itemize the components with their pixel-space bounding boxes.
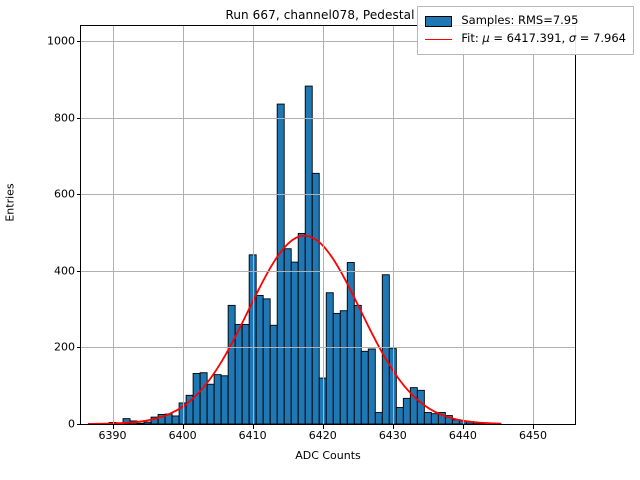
histogram-bar xyxy=(333,313,340,424)
histogram-bars xyxy=(109,86,487,424)
histogram-bar xyxy=(242,325,249,425)
x-tick-mark xyxy=(183,425,184,429)
gridline-horizontal xyxy=(81,194,575,195)
x-tick-label: 6400 xyxy=(169,429,197,442)
legend-label-samples: Samples: RMS=7.95 xyxy=(461,15,578,27)
legend-swatch-line-icon xyxy=(425,34,452,45)
histogram-bar xyxy=(298,233,305,424)
y-tick-label: 0 xyxy=(1,418,75,431)
plot-area xyxy=(80,25,576,425)
gridline-horizontal xyxy=(81,271,575,272)
x-tick-label: 6390 xyxy=(99,429,127,442)
histogram-bar xyxy=(326,293,333,424)
histogram-bar xyxy=(193,373,200,424)
legend-label-fit: Fit: μ = 6417.391, σ = 7.964 xyxy=(461,33,626,45)
histogram-bar xyxy=(172,416,179,424)
x-tick-label: 6430 xyxy=(379,429,407,442)
x-tick-mark xyxy=(463,425,464,429)
histogram-bar xyxy=(137,423,144,424)
y-axis-label: Entries xyxy=(4,123,17,283)
histogram-bar xyxy=(396,408,403,424)
gridline-vertical xyxy=(253,26,254,424)
x-tick-label: 6410 xyxy=(239,429,267,442)
histogram-bar xyxy=(340,311,347,424)
gridline-vertical xyxy=(393,26,394,424)
histogram-bar xyxy=(214,375,221,424)
histogram-bar xyxy=(263,299,270,424)
mu-symbol: μ xyxy=(482,31,489,45)
histogram-bar xyxy=(256,295,263,424)
x-axis-label: ADC Counts xyxy=(80,449,576,462)
histogram-bar xyxy=(221,376,228,424)
legend[interactable]: Samples: RMS=7.95 Fit: μ = 6417.391, σ =… xyxy=(417,6,634,55)
histogram-bar xyxy=(144,422,151,424)
gridline-vertical xyxy=(323,26,324,424)
sigma-value: = 7.964 xyxy=(576,31,626,45)
histogram-bar xyxy=(291,262,298,424)
legend-item-samples[interactable]: Samples: RMS=7.95 xyxy=(425,12,626,30)
gridline-vertical xyxy=(463,26,464,424)
x-tick-mark xyxy=(323,425,324,429)
histogram-bar xyxy=(382,275,389,424)
x-tick-label: 6450 xyxy=(519,429,547,442)
x-tick-mark xyxy=(533,425,534,429)
histogram-bar xyxy=(312,173,319,424)
gridline-vertical xyxy=(113,26,114,424)
histogram-bar xyxy=(354,305,361,424)
legend-swatch-bar-icon xyxy=(425,16,452,27)
fit-prefix: Fit: xyxy=(461,31,482,45)
legend-item-fit[interactable]: Fit: μ = 6417.391, σ = 7.964 xyxy=(425,30,626,48)
y-tick-label: 400 xyxy=(1,264,75,277)
histogram-bar xyxy=(417,390,424,424)
gridline-horizontal xyxy=(81,118,575,119)
mu-value: = 6417.391, xyxy=(490,31,569,45)
histogram-bar xyxy=(284,249,291,424)
histogram-bar xyxy=(368,349,375,424)
gridline-vertical xyxy=(183,26,184,424)
plot-canvas xyxy=(81,26,575,424)
histogram-bar xyxy=(403,398,410,424)
histogram-bar xyxy=(277,104,284,424)
x-tick-label: 6420 xyxy=(309,429,337,442)
histogram-bar xyxy=(270,325,277,424)
matplotlib-figure: Run 667, channel078, Pedestal Entries AD… xyxy=(0,0,640,480)
histogram-bar xyxy=(200,373,207,424)
histogram-bar xyxy=(207,384,214,424)
x-tick-mark xyxy=(113,425,114,429)
y-tick-label: 200 xyxy=(1,341,75,354)
histogram-bar xyxy=(235,325,242,425)
histogram-bar xyxy=(361,351,368,424)
histogram-bar xyxy=(375,413,382,424)
y-tick-label: 800 xyxy=(1,111,75,124)
histogram-bar xyxy=(228,305,235,424)
y-tick-label: 600 xyxy=(1,188,75,201)
x-tick-label: 6440 xyxy=(449,429,477,442)
x-tick-mark xyxy=(393,425,394,429)
y-tick-label: 1000 xyxy=(1,35,75,48)
histogram-bar xyxy=(424,413,431,424)
x-tick-mark xyxy=(253,425,254,429)
gridline-horizontal xyxy=(81,347,575,348)
histogram-bar xyxy=(431,414,438,424)
gridline-vertical xyxy=(533,26,534,424)
histogram-bar xyxy=(305,86,312,424)
